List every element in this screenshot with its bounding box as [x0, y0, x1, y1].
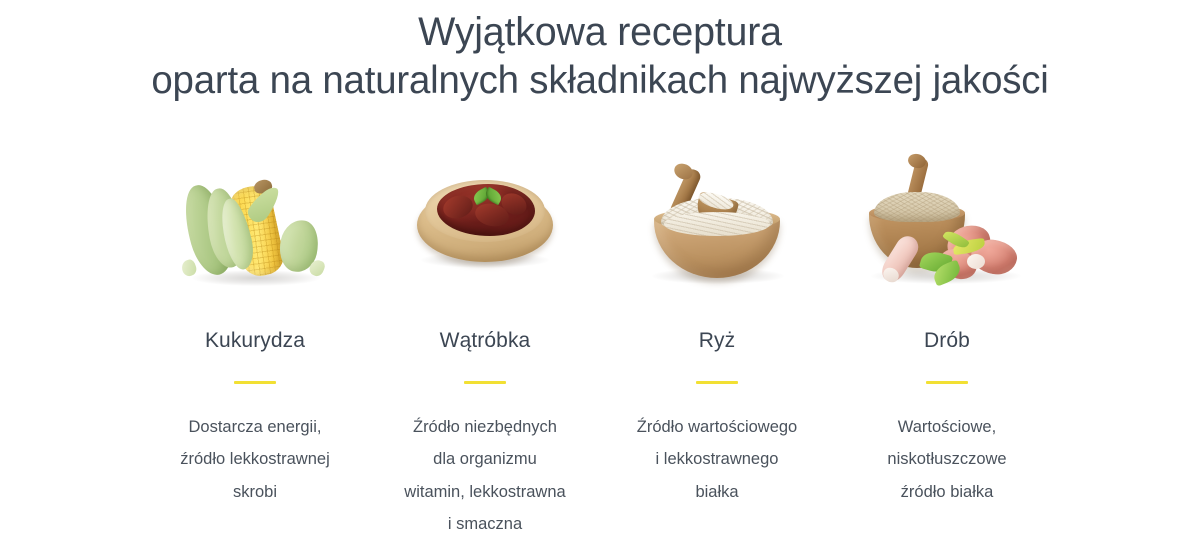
ingredient-title: Drób [832, 328, 1062, 353]
desc-line: Wartościowe, [838, 411, 1056, 443]
desc-line: Źródło wartościowego [608, 411, 826, 443]
meal-pile [874, 192, 960, 222]
ingredient-card-watrobka: Wątróbka Źródło niezbędnych dla organizm… [370, 130, 600, 540]
desc-line: źródło białka [838, 476, 1056, 508]
ingredient-description: Wartościowe, niskotłuszczowe źródło biał… [832, 411, 1062, 508]
corn-icon [180, 182, 330, 282]
ingredient-description: Źródło niezbędnych dla organizmu witamin… [370, 411, 600, 540]
title-divider [234, 381, 276, 384]
poultry-fat [967, 254, 985, 269]
desc-line: Źródło niezbędnych [376, 411, 594, 443]
page-title-line-1: Wyjątkowa receptura [9, 8, 1191, 57]
rice-bowl-icon [652, 172, 782, 282]
desc-line: Dostarcza energii, [146, 411, 364, 443]
corn-image-stage [140, 130, 370, 305]
ingredient-title: Kukurydza [140, 328, 370, 353]
ingredient-card-ryz: Ryż Źródło wartościowego i lekkostrawneg… [602, 130, 832, 540]
poultry-icon [867, 168, 1027, 286]
title-divider [696, 381, 738, 384]
ingredient-title: Ryż [602, 328, 832, 353]
desc-line: witamin, lekkostrawna [376, 476, 594, 508]
liver-image-stage [370, 130, 600, 305]
desc-line: źródło lekkostrawnej [146, 443, 364, 475]
desc-line: i smaczna [376, 508, 594, 540]
rice-image-stage [602, 130, 832, 305]
desc-line: dla organizmu [376, 443, 594, 475]
rice-pile-front [664, 212, 770, 236]
ingredient-description: Dostarcza energii, źródło lekkostrawnej … [140, 411, 370, 508]
ingredient-card-kukurydza: Kukurydza Dostarcza energii, źródło lekk… [140, 130, 370, 540]
page-title: Wyjątkowa receptura oparta na naturalnyc… [0, 0, 1200, 104]
ingredient-description: Źródło wartościowego i lekkostrawnego bi… [602, 411, 832, 508]
page-title-line-2: oparta na naturalnych składnikach najwyż… [9, 57, 1191, 105]
liver-icon [417, 174, 553, 270]
ingredient-title: Wątróbka [370, 328, 600, 353]
title-divider [464, 381, 506, 384]
desc-line: i lekkostrawnego [608, 443, 826, 475]
title-divider [926, 381, 968, 384]
desc-line: białka [608, 476, 826, 508]
desc-line: niskotłuszczowe [838, 443, 1056, 475]
desc-line: skrobi [146, 476, 364, 508]
ingredients-row: Kukurydza Dostarcza energii, źródło lekk… [0, 130, 1200, 540]
poultry-image-stage [832, 130, 1062, 305]
ingredient-card-drob: Drób Wartościowe, niskotłuszczowe źródło… [832, 130, 1062, 540]
